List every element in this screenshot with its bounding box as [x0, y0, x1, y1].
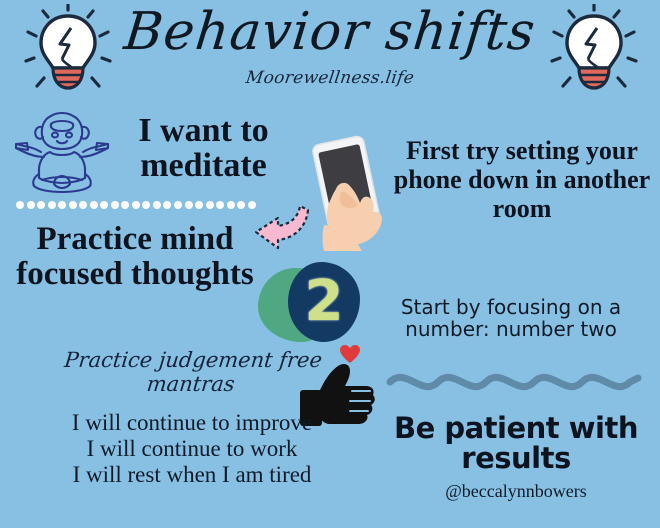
mantra-list: I will continue to improve I will contin… [24, 410, 360, 487]
goal-text: I want to meditate [96, 113, 311, 183]
list-item: I will rest when I am tired [24, 462, 360, 488]
social-handle: @beccalynnbowers [378, 481, 654, 502]
brand-subtitle: Moorewellness.life [0, 68, 660, 88]
mantra-heading: Practice judgement free mantras [49, 348, 334, 396]
dotted-divider [16, 200, 256, 210]
wavy-line-divider [386, 370, 642, 405]
number-two-label: 2 [288, 268, 360, 336]
page-title: Behavior shifts [0, 6, 660, 58]
patience-text: Be patient with results [378, 414, 654, 473]
list-item: I will continue to improve [24, 410, 360, 436]
phone-tip-text: First try setting your phone down in ano… [392, 136, 652, 223]
hand-holding-phone-icon [296, 133, 404, 256]
pink-curved-arrow-icon [250, 198, 312, 259]
counting-text: Start by focusing on a number: number tw… [366, 296, 656, 341]
list-item: I will continue to work [24, 436, 360, 462]
infographic-poster: Behavior shifts Moorewellness.life [0, 0, 660, 528]
practice-text: Practice mind focused thoughts [4, 222, 266, 291]
